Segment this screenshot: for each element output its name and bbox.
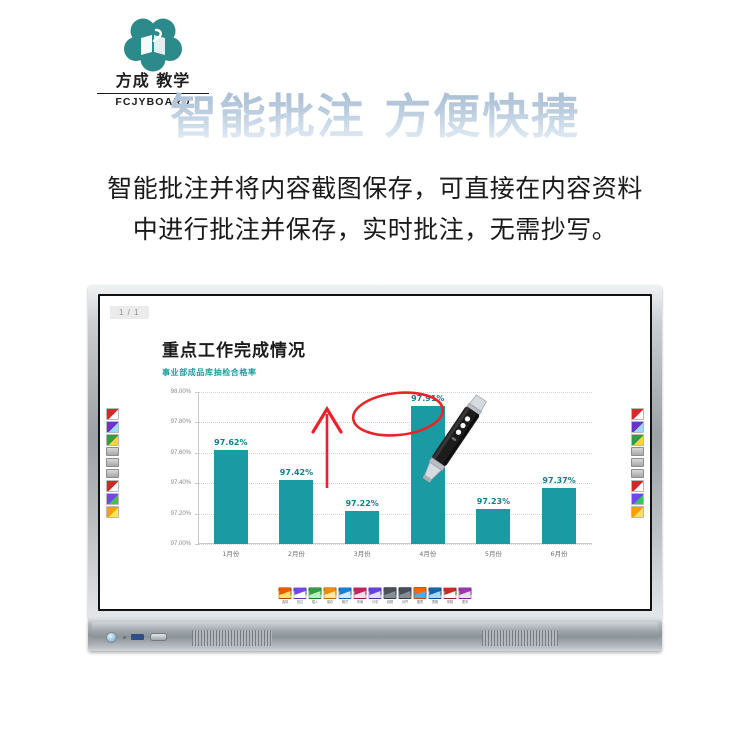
highlighter-tool-icon[interactable] bbox=[631, 421, 644, 433]
promo-page: 方成 教学 FCJYBOARD 智能批注 方便快捷 智能批注并将内容截图保存，可… bbox=[0, 0, 750, 736]
eraser-tool-icon[interactable] bbox=[631, 447, 644, 456]
dock-item-format[interactable]: 格式 bbox=[339, 587, 352, 604]
dock-item-label: 图表 bbox=[414, 600, 427, 604]
speaker-grille-icon bbox=[482, 630, 558, 646]
dock-item-insert[interactable]: 插入 bbox=[309, 587, 322, 604]
brand-name-cn: 方成 教学 bbox=[78, 72, 228, 90]
highlighter-tool-icon[interactable] bbox=[106, 421, 119, 433]
whiteboard-screen[interactable]: 1 / 1 重点工作完成情况 事业部成品库抽检合格率 98.00%97.80%9… bbox=[100, 296, 650, 609]
chart-bar-group: 97.37% bbox=[530, 488, 588, 544]
eraser-tool-icon[interactable] bbox=[106, 447, 119, 456]
dock-item-help[interactable]: 帮助 bbox=[444, 587, 457, 604]
chart-title: 重点工作完成情况 bbox=[162, 336, 592, 361]
app-dock[interactable]: 选择批注插入保存格式布局分享线框对齐图表表格帮助更多 bbox=[279, 587, 472, 604]
y-axis-tick-label: 98.00% bbox=[171, 389, 191, 395]
select-icon bbox=[279, 587, 292, 599]
chart-bar-group: 97.23% bbox=[465, 509, 523, 544]
dock-item-align[interactable]: 对齐 bbox=[399, 587, 412, 604]
dock-item-label: 格式 bbox=[339, 600, 352, 604]
flower-book-logo-icon bbox=[124, 16, 182, 72]
dock-item-label: 分享 bbox=[369, 600, 382, 604]
x-axis-tick-label: 3月份 bbox=[333, 548, 391, 558]
dock-item-label: 表格 bbox=[429, 600, 442, 604]
help-icon bbox=[444, 587, 457, 599]
dock-item-lines[interactable]: 线框 bbox=[384, 587, 397, 604]
display-bezel: 1 / 1 重点工作完成情况 事业部成品库抽检合格率 98.00%97.80%9… bbox=[88, 285, 662, 620]
dock-item-label: 选择 bbox=[279, 600, 292, 604]
dock-item-annotate[interactable]: 批注 bbox=[294, 587, 307, 604]
dock-item-label: 插入 bbox=[309, 600, 322, 604]
pen-tool-icon[interactable] bbox=[631, 408, 644, 420]
pen-tool-icon[interactable] bbox=[106, 408, 119, 420]
x-axis-tick-label: 6月份 bbox=[530, 548, 588, 558]
chart-bar-group: 97.62% bbox=[202, 450, 260, 544]
x-axis-tick-label: 5月份 bbox=[465, 548, 523, 558]
x-axis-tick-label: 4月份 bbox=[399, 548, 457, 558]
dock-item-label: 保存 bbox=[324, 600, 337, 604]
chart-bar-value-label: 97.37% bbox=[542, 476, 575, 485]
y-axis: 98.00%97.80%97.60%97.40%97.20%97.00% bbox=[162, 392, 195, 544]
dock-item-chart[interactable]: 图表 bbox=[414, 587, 427, 604]
layout-icon bbox=[354, 587, 367, 599]
dock-item-label: 线框 bbox=[384, 600, 397, 604]
x-axis: 1月份2月份3月份4月份5月份6月份 bbox=[198, 548, 592, 558]
table-icon bbox=[429, 587, 442, 599]
chart-bar: 97.22% bbox=[345, 511, 379, 544]
save-icon bbox=[324, 587, 337, 599]
keyboard-icon[interactable] bbox=[631, 506, 644, 518]
chart-bar-value-label: 97.42% bbox=[280, 468, 313, 477]
interactive-whiteboard: 1 / 1 重点工作完成情况 事业部成品库抽检合格率 98.00%97.80%9… bbox=[88, 285, 662, 655]
power-button-icon[interactable] bbox=[106, 632, 117, 643]
dock-item-label: 更多 bbox=[459, 600, 472, 604]
dock-item-label: 对齐 bbox=[399, 600, 412, 604]
stylus-pen[interactable] bbox=[408, 386, 494, 495]
y-axis-tick-label: 97.80% bbox=[171, 419, 191, 425]
chart-bar: 97.42% bbox=[279, 480, 313, 544]
chart-bar-value-label: 97.23% bbox=[477, 497, 510, 506]
dock-item-label: 批注 bbox=[294, 600, 307, 604]
chart-bar: 97.37% bbox=[542, 488, 576, 544]
left-tool-rail[interactable] bbox=[106, 408, 119, 519]
dock-item-share[interactable]: 分享 bbox=[369, 587, 382, 604]
base-panel bbox=[92, 622, 658, 647]
y-axis-tick-label: 97.00% bbox=[171, 541, 191, 547]
page-indicator: 1 / 1 bbox=[110, 306, 149, 319]
redo-icon[interactable] bbox=[631, 469, 644, 478]
dock-item-label: 帮助 bbox=[444, 600, 457, 604]
page-title: 智能批注 方便快捷 bbox=[0, 90, 750, 146]
chart-subtitle: 事业部成品库抽检合格率 bbox=[162, 367, 592, 378]
align-icon bbox=[399, 587, 412, 599]
chart-bar: 97.23% bbox=[476, 509, 510, 544]
usb-port-icon bbox=[131, 634, 144, 640]
format-icon bbox=[339, 587, 352, 599]
dock-item-save[interactable]: 保存 bbox=[324, 587, 337, 604]
device-base bbox=[88, 618, 662, 651]
chart-bar-group: 97.22% bbox=[333, 511, 391, 544]
undo-icon[interactable] bbox=[631, 458, 644, 467]
insert-icon bbox=[309, 587, 322, 599]
keyboard-icon[interactable] bbox=[106, 506, 119, 518]
lines-icon bbox=[384, 587, 397, 599]
y-axis-tick-mark bbox=[195, 544, 199, 545]
dock-item-label: 布局 bbox=[354, 600, 367, 604]
palette-icon[interactable] bbox=[106, 493, 119, 505]
redo-icon[interactable] bbox=[106, 469, 119, 478]
gridline bbox=[199, 544, 592, 545]
page-subtitle: 智能批注并将内容截图保存，可直接在内容资料 中进行批注并保存，实时批注，无需抄写… bbox=[0, 168, 750, 250]
red-up-arrow-annotation bbox=[310, 402, 344, 495]
chart-icon bbox=[414, 587, 427, 599]
subtitle-line-2: 中进行批注并保存，实时批注，无需抄写。 bbox=[0, 209, 750, 250]
chart-bar: 97.62% bbox=[214, 450, 248, 544]
chart-bar-value-label: 97.22% bbox=[345, 499, 378, 508]
indicator-led-icon bbox=[123, 636, 126, 639]
brush-tool-icon[interactable] bbox=[106, 434, 119, 446]
dock-item-table[interactable]: 表格 bbox=[429, 587, 442, 604]
x-axis-tick-label: 1月份 bbox=[202, 548, 260, 558]
save-screenshot-icon[interactable] bbox=[631, 480, 644, 492]
subtitle-line-1: 智能批注并将内容截图保存，可直接在内容资料 bbox=[0, 168, 750, 209]
chart-container: 重点工作完成情况 事业部成品库抽检合格率 98.00%97.80%97.60%9… bbox=[162, 336, 592, 596]
dock-item-layout[interactable]: 布局 bbox=[354, 587, 367, 604]
dock-item-more[interactable]: 更多 bbox=[459, 587, 472, 604]
annotate-icon bbox=[294, 587, 307, 599]
undo-icon[interactable] bbox=[106, 458, 119, 467]
save-screenshot-icon[interactable] bbox=[106, 480, 119, 492]
chart-plot-area: 98.00%97.80%97.60%97.40%97.20%97.00% 97.… bbox=[162, 392, 592, 567]
more-icon bbox=[459, 587, 472, 599]
share-icon bbox=[369, 587, 382, 599]
card-slot-icon bbox=[150, 633, 167, 641]
palette-icon[interactable] bbox=[631, 493, 644, 505]
y-axis-tick-label: 97.60% bbox=[171, 450, 191, 456]
speaker-grille-icon bbox=[192, 630, 272, 646]
y-axis-tick-label: 97.20% bbox=[171, 511, 191, 517]
brush-tool-icon[interactable] bbox=[631, 434, 644, 446]
chart-bar-value-label: 97.62% bbox=[214, 438, 247, 447]
dock-item-select[interactable]: 选择 bbox=[279, 587, 292, 604]
x-axis-tick-label: 2月份 bbox=[268, 548, 326, 558]
right-tool-rail[interactable] bbox=[631, 408, 644, 519]
y-axis-tick-label: 97.40% bbox=[171, 480, 191, 486]
bezel-inner-frame: 1 / 1 重点工作完成情况 事业部成品库抽检合格率 98.00%97.80%9… bbox=[98, 294, 652, 611]
